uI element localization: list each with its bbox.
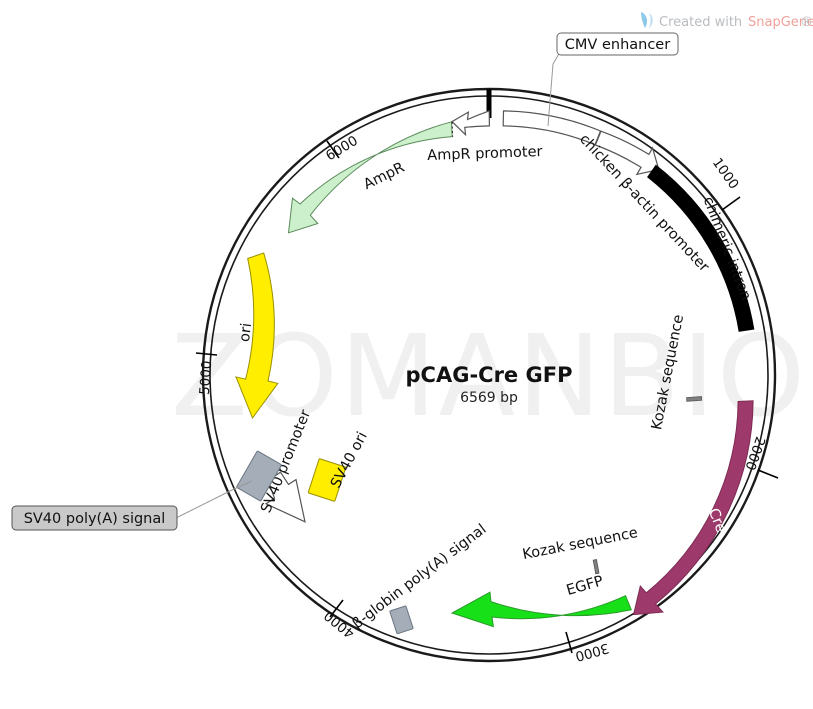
feature-label-ori: ori bbox=[237, 322, 255, 343]
tick-label-1000: 1000 bbox=[709, 155, 742, 192]
feature-label-kozak-sequence-2: Kozak sequence bbox=[521, 525, 639, 563]
snapgene-logo-icon bbox=[641, 12, 653, 28]
tick-label-5000: 5000 bbox=[197, 360, 215, 395]
callout-cmv-enhancer[interactable]: CMV enhancer bbox=[548, 33, 678, 126]
tick-label-3000: 3000 bbox=[573, 640, 610, 665]
feature-label-ampr-promoter: AmpR promoter bbox=[427, 144, 543, 164]
snapgene-credit-suffix: ® bbox=[800, 15, 813, 30]
feature-egfp[interactable]: EGFP bbox=[452, 573, 631, 626]
feature-label-egfp: EGFP bbox=[565, 573, 606, 599]
plasmid-size-label: 6569 bp bbox=[460, 390, 518, 406]
feature-kozak-sequence-2[interactable]: Kozak sequence bbox=[521, 525, 639, 574]
plasmid-map-canvas: ZOMANBIO Created with SnapGene ® 1000 20… bbox=[0, 0, 813, 709]
plasmid-map-svg: ZOMANBIO Created with SnapGene ® 1000 20… bbox=[0, 0, 813, 709]
callout-label-sv40-polya-signal: SV40 poly(A) signal bbox=[24, 511, 166, 527]
callout-sv40-polya-signal[interactable]: SV40 poly(A) signal bbox=[12, 481, 252, 530]
page-title: pCAG-Cre GFP bbox=[406, 363, 573, 387]
callout-label-cmv-enhancer: CMV enhancer bbox=[565, 37, 670, 53]
snapgene-credit: Created with SnapGene ® bbox=[641, 12, 813, 30]
feature-ampr[interactable]: AmpR bbox=[289, 122, 453, 233]
snapgene-credit-prefix: Created with bbox=[659, 15, 742, 30]
feature-label-ampr: AmpR bbox=[361, 160, 407, 193]
